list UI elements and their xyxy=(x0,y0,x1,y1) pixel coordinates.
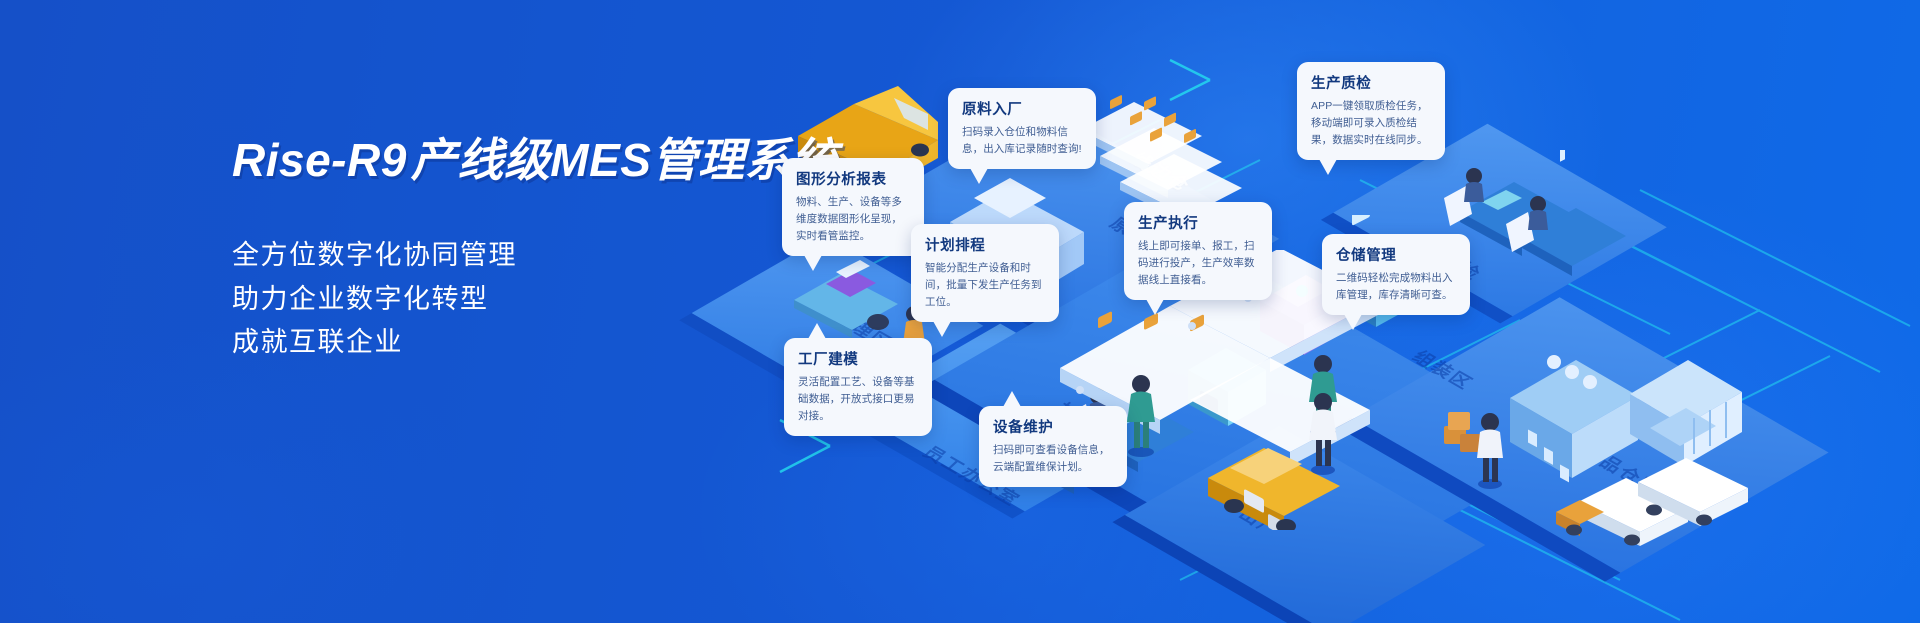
outbound-truck-white-2 xyxy=(1608,438,1758,528)
hero-copy: Rise-R9产线级MES管理系统 全方位数字化协同管理 助力企业数字化转型 成… xyxy=(232,124,837,365)
page-title-cjk: 产线级MES管理系统 xyxy=(411,134,838,186)
card-body-production-execution: 线上即可接单、报工，扫码进行投产，生产效率数据线上直接看。 xyxy=(1138,238,1259,289)
card-title-raw-material-inbound: 原料入厂 xyxy=(962,98,1083,119)
card-title-production-execution: 生产执行 xyxy=(1138,212,1259,233)
card-title-warehouse-management: 仓储管理 xyxy=(1336,244,1457,265)
card-body-plan-scheduling: 智能分配生产设备和时间，批量下发生产任务到工位。 xyxy=(925,260,1046,311)
card-body-raw-material-inbound: 扫码录入仓位和物料信息，出入库记录随时查询! xyxy=(962,124,1083,158)
mes-hero-banner: Rise-R9产线级MES管理系统 全方位数字化协同管理 助力企业数字化转型 成… xyxy=(0,0,1920,623)
card-title-plan-scheduling: 计划排程 xyxy=(925,234,1046,255)
hero-subtitle-line-1: 全方位数字化协同管理 xyxy=(232,234,837,278)
card-body-warehouse-management: 二维码轻松完成物料出入库管理，库存清晰可查。 xyxy=(1336,270,1457,304)
card-title-equipment-maintenance: 设备维护 xyxy=(993,416,1114,437)
callout-card-factory-modeling[interactable]: 工厂建模 灵活配置工艺、设备等基础数据，开放式接口更易对接。 xyxy=(784,338,932,436)
worker-carrying-boxes xyxy=(1440,400,1510,490)
callout-card-warehouse-management[interactable]: 仓储管理 二维码轻松完成物料出入库管理，库存清晰可查。 xyxy=(1322,234,1470,315)
card-title-graphic-report: 图形分析报表 xyxy=(796,168,911,189)
callout-card-raw-material-inbound[interactable]: 原料入厂 扫码录入仓位和物料信息，出入库记录随时查询! xyxy=(948,88,1096,169)
card-body-production-quality-inspection: APP一键领取质检任务，移动端即可录入质检结果，数据实时在线同步。 xyxy=(1311,98,1432,149)
worker-outbound xyxy=(1300,390,1346,476)
callout-card-graphic-report[interactable]: 图形分析报表 物料、生产、设备等多维度数据图形化呈现，实时看管监控。 xyxy=(782,158,924,256)
callout-card-equipment-maintenance[interactable]: 设备维护 扫码即可查看设备信息，云端配置维保计划。 xyxy=(979,406,1127,487)
card-body-factory-modeling: 灵活配置工艺、设备等基础数据，开放式接口更易对接。 xyxy=(798,374,919,425)
card-title-factory-modeling: 工厂建模 xyxy=(798,348,919,369)
page-title-latin: Rise-R9 xyxy=(232,134,411,186)
card-title-production-quality-inspection: 生产质检 xyxy=(1311,72,1432,93)
page-title: Rise-R9产线级MES管理系统 xyxy=(232,124,837,190)
callout-card-production-execution[interactable]: 生产执行 线上即可接单、报工，扫码进行投产，生产效率数据线上直接看。 xyxy=(1124,202,1272,300)
hero-subtitle: 全方位数字化协同管理 助力企业数字化转型 成就互联企业 xyxy=(232,234,837,365)
card-body-graphic-report: 物料、生产、设备等多维度数据图形化呈现，实时看管监控。 xyxy=(796,194,911,245)
background-glow-left xyxy=(0,330,500,623)
callout-card-production-quality-inspection[interactable]: 生产质检 APP一键领取质检任务，移动端即可录入质检结果，数据实时在线同步。 xyxy=(1297,62,1445,160)
hero-subtitle-line-2: 助力企业数字化转型 xyxy=(232,278,837,322)
hero-subtitle-line-3: 成就互联企业 xyxy=(232,321,837,365)
card-body-equipment-maintenance: 扫码即可查看设备信息，云端配置维保计划。 xyxy=(993,442,1114,476)
callout-card-plan-scheduling[interactable]: 计划排程 智能分配生产设备和时间，批量下发生产任务到工位。 xyxy=(911,224,1059,322)
